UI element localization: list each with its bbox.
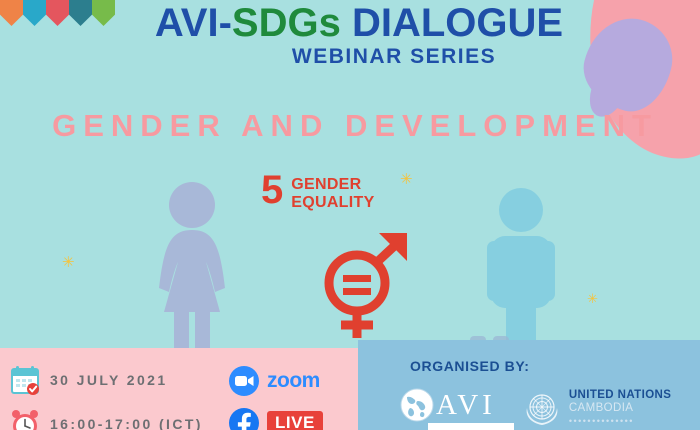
avi-logo: AVI <box>400 388 496 422</box>
sdg-goal-number: 5 <box>261 173 282 208</box>
un-logo-line1: UNITED NATIONS <box>569 389 672 401</box>
event-info-list: 30 JULY 2021 16:00-17:00 (ICT) <box>10 358 250 430</box>
alarm-clock-icon <box>10 409 40 430</box>
avi-logo-text: AVI <box>436 391 496 420</box>
globe-icon <box>400 388 434 422</box>
gender-equality-icon <box>312 228 417 340</box>
title-main-line: AVI-SDGs DIALOGUE <box>18 2 700 44</box>
male-figure-silhouette <box>482 186 560 358</box>
title-subtitle: WEBINAR SERIES <box>18 45 700 69</box>
sparkle-star-icon: ✳ <box>587 292 598 305</box>
zoom-icon[interactable] <box>228 365 260 397</box>
female-figure-silhouette <box>148 180 236 355</box>
united-nations-emblem-icon <box>522 388 562 428</box>
zoom-label: zoom <box>267 369 320 393</box>
facebook-live-row[interactable]: LIVE <box>228 402 368 430</box>
sparkle-star-icon: ✳ <box>400 172 413 187</box>
avi-logo-bar <box>428 423 514 430</box>
live-badge: LIVE <box>267 411 323 430</box>
zoom-platform-row[interactable]: zoom <box>228 360 368 402</box>
sdg-goal-label: GENDER EQUALITY <box>291 173 374 212</box>
event-date-text: 30 JULY 2021 <box>50 372 168 388</box>
sparkle-star-icon: ✳ <box>62 255 75 270</box>
organiser-logos: AVI UNITED NATIONS CAMBODIA ••••••••••••… <box>400 388 671 428</box>
sdg-goal-badge: 5 GENDER EQUALITY <box>261 173 375 212</box>
title-avi: AVI- <box>155 1 232 45</box>
page-title: GENDER AND DEVELOPMENT <box>0 108 700 144</box>
event-time-row: 16:00-17:00 (ICT) <box>10 402 250 430</box>
poster-canvas: AVI-SDGs DIALOGUE WEBINAR SERIES GENDER … <box>0 0 700 430</box>
title-sdgs: SDGs <box>232 1 341 45</box>
title-dialogue: DIALOGUE <box>341 1 563 45</box>
event-time-text: 16:00-17:00 (ICT) <box>50 416 203 430</box>
calendar-icon <box>10 365 40 395</box>
platform-list: zoom LIVE <box>228 360 368 430</box>
un-logo-line2: CAMBODIA <box>569 402 672 414</box>
organised-by-heading: ORGANISED BY: <box>410 358 530 374</box>
un-cambodia-logo: UNITED NATIONS CAMBODIA •••••••••••••• <box>522 388 672 428</box>
sdg-goal-label-line1: GENDER <box>291 176 374 194</box>
poster-title: AVI-SDGs DIALOGUE WEBINAR SERIES <box>0 2 700 69</box>
facebook-icon[interactable] <box>228 407 260 430</box>
un-logo-dots: •••••••••••••• <box>569 417 672 427</box>
un-logo-text: UNITED NATIONS CAMBODIA •••••••••••••• <box>569 389 672 427</box>
event-date-row: 30 JULY 2021 <box>10 358 250 402</box>
sdg-goal-label-line2: EQUALITY <box>291 194 374 212</box>
